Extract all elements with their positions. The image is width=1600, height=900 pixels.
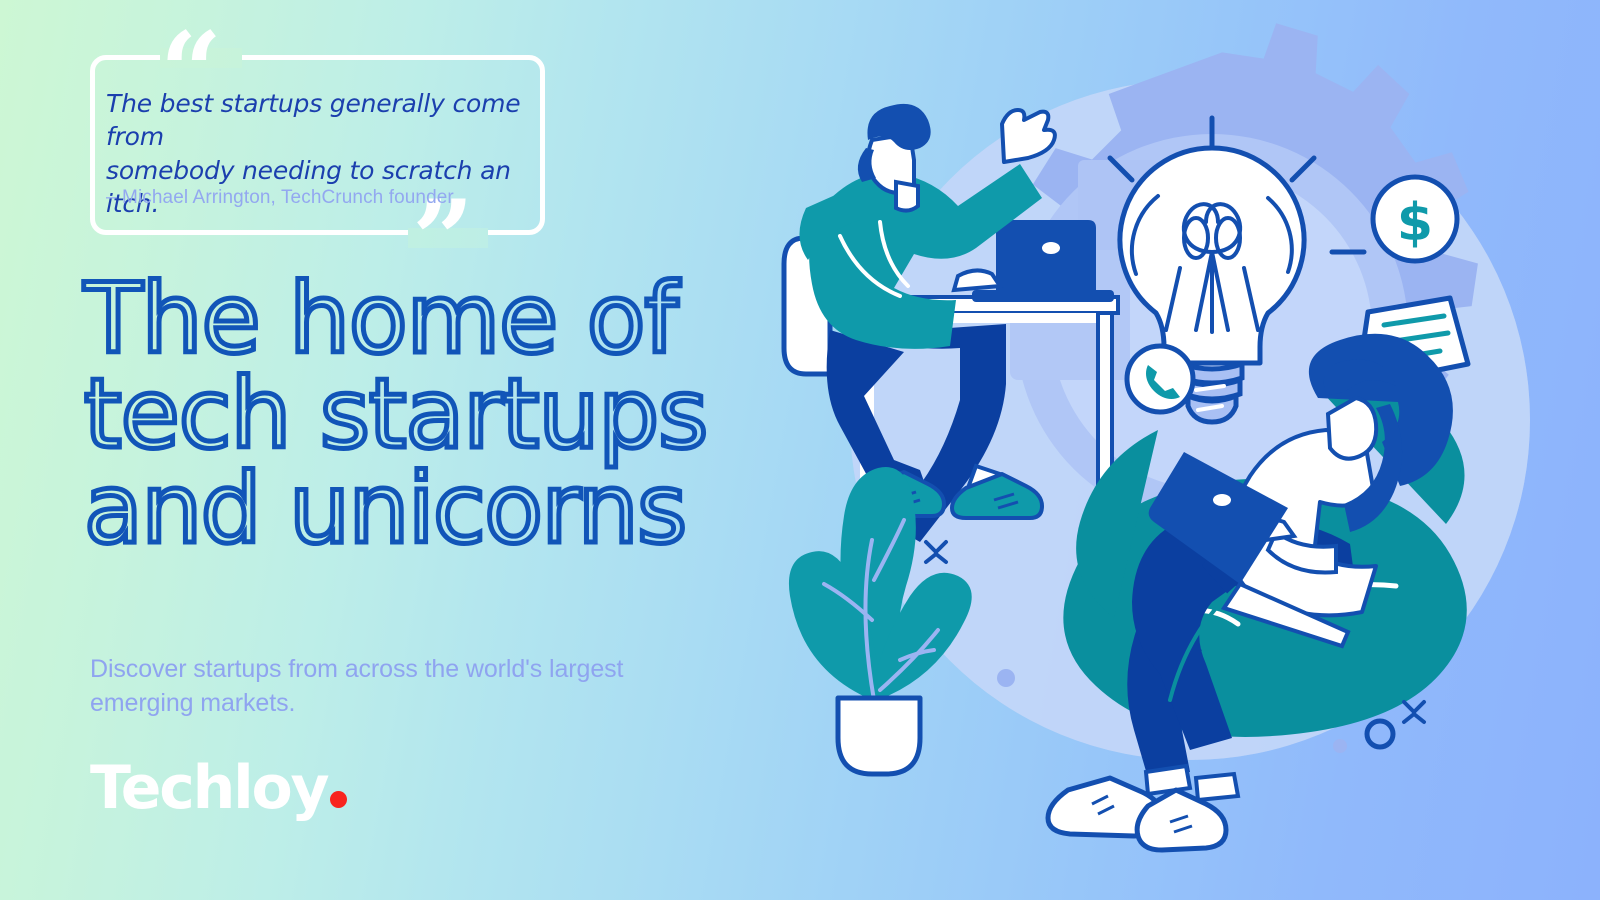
quote-card-body: The best startups generally come from so… [90, 55, 545, 235]
headline-line-3: and unicorns [84, 462, 774, 557]
headline-line-1: The home of [84, 272, 774, 367]
logo-dot-icon [330, 791, 347, 808]
subtitle-text: Discover startups from across the world'… [90, 652, 690, 720]
ring-decoration [1367, 721, 1393, 747]
brand-logo[interactable]: Techloy [90, 758, 347, 818]
headline-line-2: tech startups [84, 367, 774, 462]
content-column: “ ” The best startups generally come fro… [0, 0, 780, 900]
dot-decoration-2 [1333, 739, 1347, 753]
quote-attribution: – Michael Arrington, TechCrunch founder [106, 187, 536, 209]
dot-decoration-1 [997, 669, 1015, 687]
svg-text:$: $ [1397, 193, 1433, 253]
sparkle-decoration-2 [1404, 702, 1424, 722]
poster-canvas: $ [0, 0, 1600, 900]
page-title: The home of tech startups and unicorns [84, 272, 774, 557]
logo-wordmark: Techloy [90, 758, 327, 818]
hero-illustration: $ [760, 0, 1600, 900]
dollar-coin-icon: $ [1373, 177, 1457, 261]
phone-icon [1127, 346, 1193, 412]
plant-pot [838, 698, 920, 774]
